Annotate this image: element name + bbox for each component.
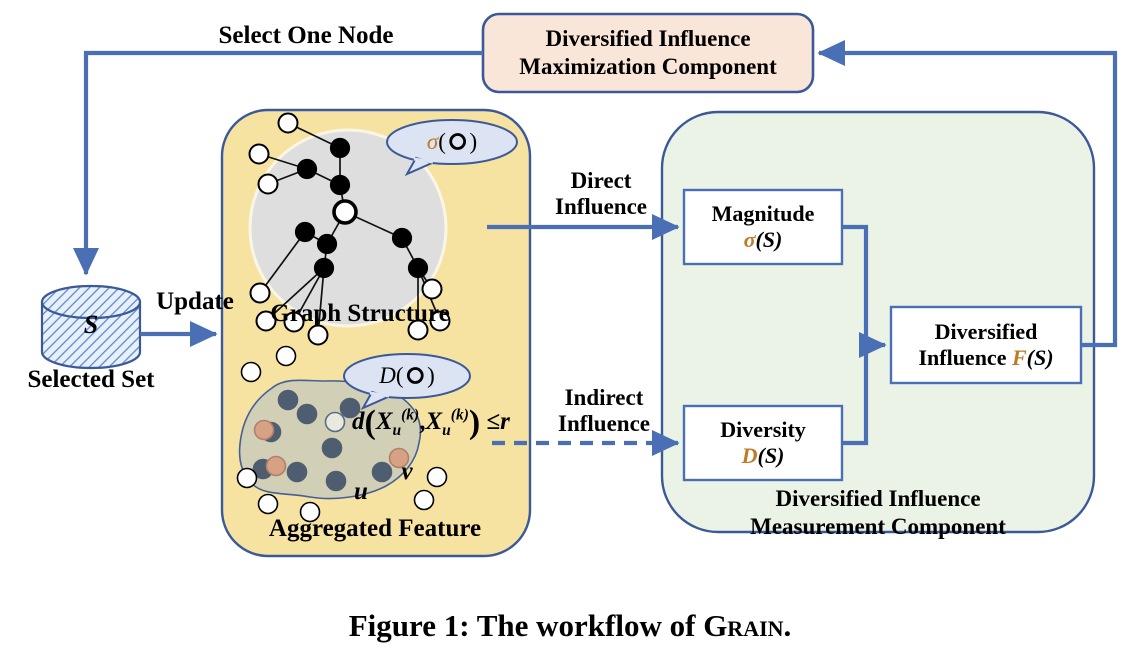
feature-dot-outside xyxy=(428,468,447,487)
diversity-box-label: Diversity D(S) xyxy=(684,406,842,480)
graph-node-uninfluenced xyxy=(279,114,298,133)
indirect-influence-line1: Indirect xyxy=(565,385,644,411)
formula-open: ( xyxy=(365,404,376,441)
diversity-callout-open: ( xyxy=(396,363,404,389)
edge-label-select-one-node: Select One Node xyxy=(166,22,446,50)
direct-influence-line1: Direct xyxy=(571,168,632,194)
diversity-callout-text: D(⭘) xyxy=(347,359,467,393)
feature-dot-dark xyxy=(298,405,317,424)
formula-x2-base: X xyxy=(425,408,442,435)
graph-node-influenced xyxy=(318,235,337,254)
selected-set-label: Selected Set xyxy=(11,366,171,394)
formula-r: r xyxy=(500,408,510,435)
f-box-title: Diversified xyxy=(935,319,1038,345)
graph-node-influenced xyxy=(409,259,428,278)
f-box-symbol: Influence F(S) xyxy=(918,345,1053,371)
sigma-callout-close: ) xyxy=(469,129,477,155)
f-box-prefix: Influence xyxy=(918,345,1012,370)
feature-node-v-label: v xyxy=(392,458,422,486)
sigma-callout-fn: σ xyxy=(427,129,438,155)
formula-x1-sup: (k) xyxy=(401,407,419,424)
graph-node-influenced xyxy=(331,176,350,195)
distance-formula: d(Xu(k),Xu(k)) ≤r xyxy=(352,404,510,442)
feature-dot-dark xyxy=(279,391,298,410)
feature-dot-outside xyxy=(238,469,257,488)
feature-dot-outside xyxy=(259,495,278,514)
feature-dot-salmon xyxy=(255,421,274,440)
edge-label-indirect-influence: Indirect Influence xyxy=(528,380,680,442)
magnitude-symbol-fn: σ xyxy=(744,227,756,252)
feature-dot-selected xyxy=(326,413,345,432)
sigma-callout-open: ( xyxy=(438,129,446,155)
formula-x2-sub: u xyxy=(442,422,451,439)
sigma-callout-ring-icon: ⭘ xyxy=(449,130,467,155)
f-box-symbol-fn: F xyxy=(1012,345,1027,370)
feature-dot-outside xyxy=(242,363,261,382)
diversity-title: Diversity xyxy=(720,417,806,443)
feature-dot-salmon xyxy=(267,457,286,476)
formula-close: ) xyxy=(469,404,480,441)
graph-node-uninfluenced xyxy=(309,326,328,345)
magnitude-box-label: Magnitude σ(S) xyxy=(684,190,842,264)
figure-canvas: Diversified Influence Maximization Compo… xyxy=(0,0,1140,668)
formula-fn: d xyxy=(352,408,365,435)
diversity-callout-ring-icon: ⭘ xyxy=(407,364,425,389)
graph-node-selected xyxy=(334,201,356,223)
diversified-influence-box-label: Diversified Influence F(S) xyxy=(891,307,1081,383)
feature-dot-dark xyxy=(323,439,342,458)
diversity-symbol-fn: D xyxy=(742,443,758,468)
graph-node-uninfluenced xyxy=(423,280,442,299)
dim-component-label: Diversified Influence Maximization Compo… xyxy=(483,14,813,92)
caption-smallcaps: Grain xyxy=(703,608,783,643)
caption-end: . xyxy=(784,608,792,643)
sigma-callout-text: σ(⭘) xyxy=(392,125,512,159)
feature-dot-dark xyxy=(327,472,346,491)
aggregated-feature-label: Aggregated Feature xyxy=(230,515,520,543)
diversity-callout-fn: D xyxy=(379,363,396,389)
formula-x1-base: X xyxy=(376,408,393,435)
measurement-component-label: Diversified Influence Measurement Compon… xyxy=(662,482,1094,544)
feature-dot-dark xyxy=(288,463,307,482)
figure-caption: Figure 1: The workflow of Grain. xyxy=(0,608,1140,644)
indirect-influence-line2: Influence xyxy=(558,411,650,437)
measurement-component-line1: Diversified Influence xyxy=(775,485,980,513)
graph-node-influenced xyxy=(331,139,350,158)
selected-set-symbol: S xyxy=(61,310,121,339)
edge-label-direct-influence: Direct Influence xyxy=(530,163,672,225)
graph-node-influenced xyxy=(298,160,317,179)
magnitude-symbol-arg: (S) xyxy=(755,227,782,252)
graph-node-influenced xyxy=(393,229,412,248)
magnitude-title: Magnitude xyxy=(712,201,815,227)
magnitude-symbol: σ(S) xyxy=(744,227,783,253)
direct-influence-line2: Influence xyxy=(555,194,647,220)
feature-dot-outside xyxy=(277,347,296,366)
feature-dot-outside xyxy=(415,491,434,510)
f-box-symbol-arg: (S) xyxy=(1027,345,1054,370)
caption-main: Figure 1: The workflow of xyxy=(349,608,703,643)
formula-x2-sup: (k) xyxy=(451,407,469,424)
formula-relation: ≤ xyxy=(486,408,500,435)
feature-node-u-label: u xyxy=(346,478,376,506)
graph-node-uninfluenced xyxy=(250,145,269,164)
diversity-symbol: D(S) xyxy=(742,443,785,469)
measurement-component-line2: Measurement Component xyxy=(750,513,1006,541)
graph-node-influenced xyxy=(315,259,334,278)
dim-component-line2: Maximization Component xyxy=(519,53,776,81)
caption-smallcaps-text: Grain xyxy=(703,608,783,643)
graph-node-uninfluenced xyxy=(259,175,278,194)
dim-component-line1: Diversified Influence xyxy=(545,25,750,53)
diversity-callout-close: ) xyxy=(427,363,435,389)
diversity-symbol-arg: (S) xyxy=(758,443,785,468)
graph-structure-label: Graph Structure xyxy=(230,300,490,328)
formula-x1-sub: u xyxy=(393,422,402,439)
graph-node-influenced xyxy=(296,223,315,242)
